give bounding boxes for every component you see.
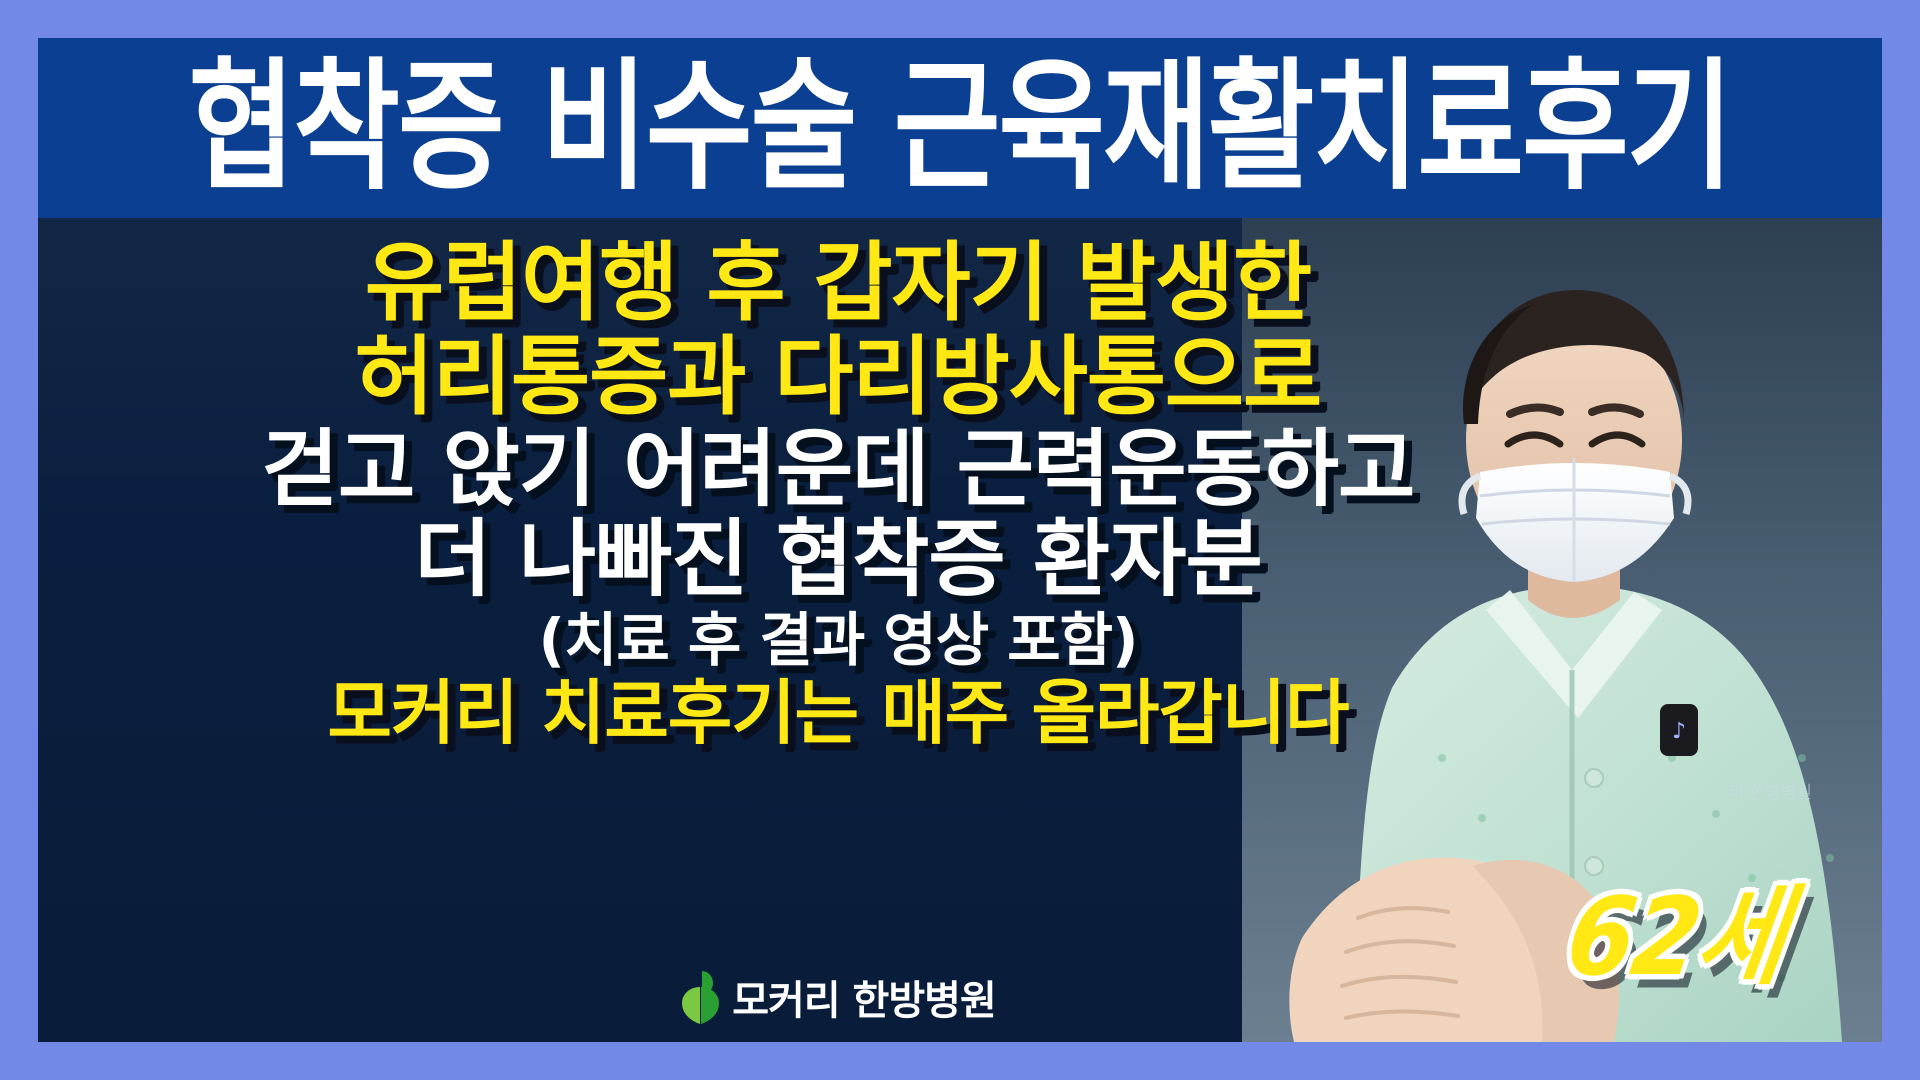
- leaf-heart-icon: [680, 969, 720, 1025]
- age-badge: 62세: [1559, 850, 1797, 1006]
- body-panel: ♪: [38, 218, 1882, 1042]
- title-banner: 협착증 비수술 근육재활치료후기: [38, 38, 1882, 218]
- page-title: 협착증 비수술 근육재활치료후기: [189, 57, 1732, 199]
- headline-line-2: 허리통증과 다리방사통으로: [38, 334, 1638, 422]
- svg-text:♪: ♪: [1672, 719, 1686, 744]
- photo-watermark: 리 한방병원: [1728, 778, 1812, 803]
- headline-footer: 모커리 치료후기는 매주 올라갑니다: [38, 678, 1638, 749]
- headline-block: 유럽여행 후 갑자기 발생한 허리통증과 다리방사통으로 걷고 앉기 어려운데 …: [38, 218, 1638, 749]
- headline-note: (치료 후 결과 영상 포함): [38, 611, 1638, 670]
- hospital-logo: 모커리 한방병원: [38, 968, 1638, 1026]
- headline-line-1: 유럽여행 후 갑자기 발생한: [38, 240, 1638, 328]
- headline-line-4: 더 나빠진 협착증 환자분: [38, 517, 1638, 603]
- logo-text: 모커리 한방병원: [732, 968, 996, 1026]
- thumbnail-root: 협착증 비수술 근육재활치료후기: [0, 0, 1920, 1080]
- headline-line-3: 걷고 앉기 어려운데 근력운동하고: [38, 427, 1638, 513]
